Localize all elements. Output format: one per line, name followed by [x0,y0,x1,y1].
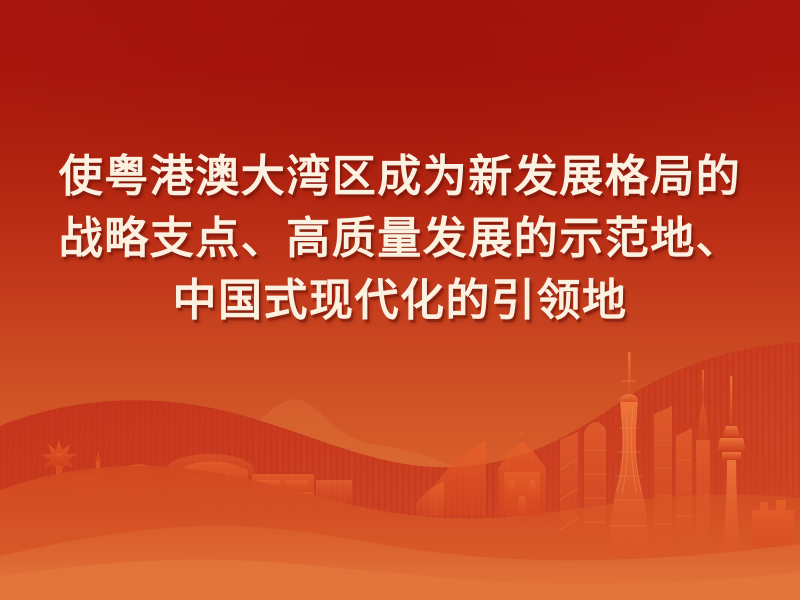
poster-canvas: 使粤港澳大湾区成为新发展格局的 战略支点、高质量发展的示范地、 中国式现代化的引… [0,0,800,600]
ctf-finance-centre-icon [584,422,606,540]
headline-line-3: 中国式现代化的引领地 [0,270,800,332]
bank-of-china-tower-icon [560,432,578,540]
ruins-of-st-pauls-icon [498,432,546,516]
headline-line-1: 使粤港澳大湾区成为新发展格局的 [0,146,800,208]
page-title: 使粤港澳大湾区成为新发展格局的 战略支点、高质量发展的示范地、 中国式现代化的引… [0,146,800,332]
skyline-illustration [0,340,800,600]
headline-line-2: 战略支点、高质量发展的示范地、 [0,208,800,270]
